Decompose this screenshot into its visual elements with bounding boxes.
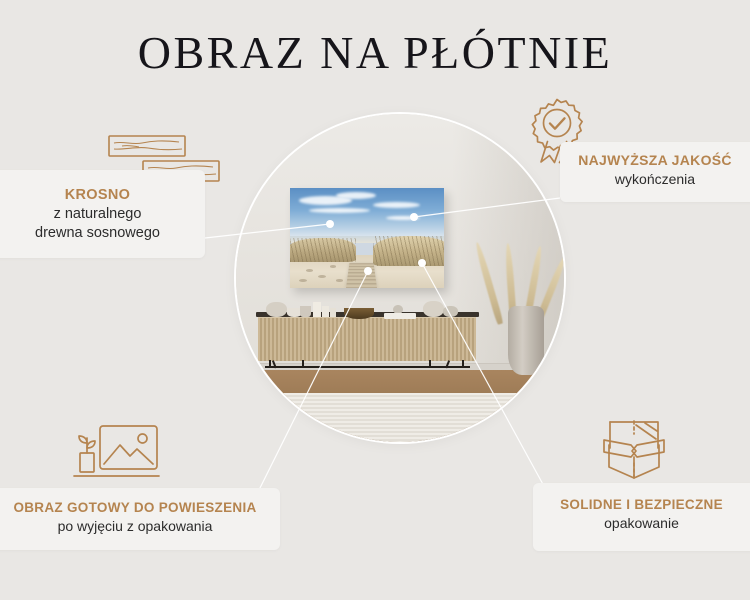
decor-bowl (300, 306, 311, 316)
feature-subtitle-opakowanie: opakowanie (533, 514, 750, 533)
footprint (318, 275, 326, 278)
rug (236, 393, 564, 442)
feature-text-jakosc: NAJWYŻSZA JAKOŚĆ wykończenia (560, 151, 750, 189)
leg (429, 360, 431, 368)
cloud-icon (336, 192, 376, 199)
cloud-icon (373, 202, 419, 208)
cloud-icon (309, 208, 371, 213)
feature-subtitle-krosno-1: z naturalnego (0, 205, 205, 224)
decor-candle (313, 302, 321, 316)
cloud-icon (386, 216, 420, 220)
open-box-icon (598, 418, 670, 480)
feature-text-krosno: KROSNO z naturalnego drewna sosnowego (0, 186, 205, 243)
feature-card-gotowy[interactable]: OBRAZ GOTOWY DO POWIESZENIA po wyjęciu z… (0, 488, 280, 550)
infographic-stage: OBRAZ NA PŁÓTNIE (0, 0, 750, 600)
feature-title-krosno: KROSNO (0, 186, 205, 205)
footprint (299, 279, 307, 282)
footprint (306, 269, 314, 272)
dune-grass (290, 238, 356, 262)
feature-card-jakosc[interactable]: NAJWYŻSZA JAKOŚĆ wykończenia (560, 142, 750, 202)
leg (302, 360, 304, 368)
canvas-artwork (290, 188, 444, 288)
feature-subtitle-jakosc: wykończenia (560, 170, 750, 189)
decor-vase (443, 306, 458, 318)
decor-vase (266, 302, 287, 317)
hero-circle-image (236, 114, 564, 442)
feature-subtitle-krosno-2: drewna sosnowego (0, 224, 205, 243)
sideboard (256, 312, 479, 368)
feature-title-opakowanie: SOLIDNE I BEZPIECZNE (533, 495, 750, 514)
decor-candle (322, 306, 329, 317)
decor-candle (330, 308, 337, 317)
feature-card-opakowanie[interactable]: SOLIDNE I BEZPIECZNE opakowanie (533, 483, 750, 551)
footprint (336, 279, 342, 282)
page-title: OBRAZ NA PŁÓTNIE (0, 26, 750, 79)
decor-vase (423, 301, 444, 317)
artwork-boardwalk (346, 263, 377, 288)
feature-title-jakosc: NAJWYŻSZA JAKOŚĆ (560, 151, 750, 170)
leg-bar (265, 366, 470, 368)
decor-books (384, 313, 417, 319)
footprint (330, 265, 336, 268)
dune-grass (373, 236, 444, 266)
sideboard-legs (265, 360, 470, 368)
artwork-dune-right (373, 236, 444, 266)
leg (269, 360, 271, 368)
sideboard-body (258, 317, 477, 360)
feature-subtitle-gotowy: po wyjęciu z opakowania (0, 517, 270, 536)
feature-card-krosno[interactable]: KROSNO z naturalnego drewna sosnowego (0, 170, 205, 258)
floor-vase (508, 306, 544, 375)
feature-text-gotowy: OBRAZ GOTOWY DO POWIESZENIA po wyjęciu z… (0, 498, 270, 536)
feature-text-opakowanie: SOLIDNE I BEZPIECZNE opakowanie (533, 495, 750, 533)
feature-title-gotowy: OBRAZ GOTOWY DO POWIESZENIA (0, 498, 270, 517)
framed-picture-icon (72, 424, 164, 486)
artwork-dune-left (290, 238, 356, 262)
leg (462, 360, 464, 368)
room-scene (236, 114, 564, 442)
